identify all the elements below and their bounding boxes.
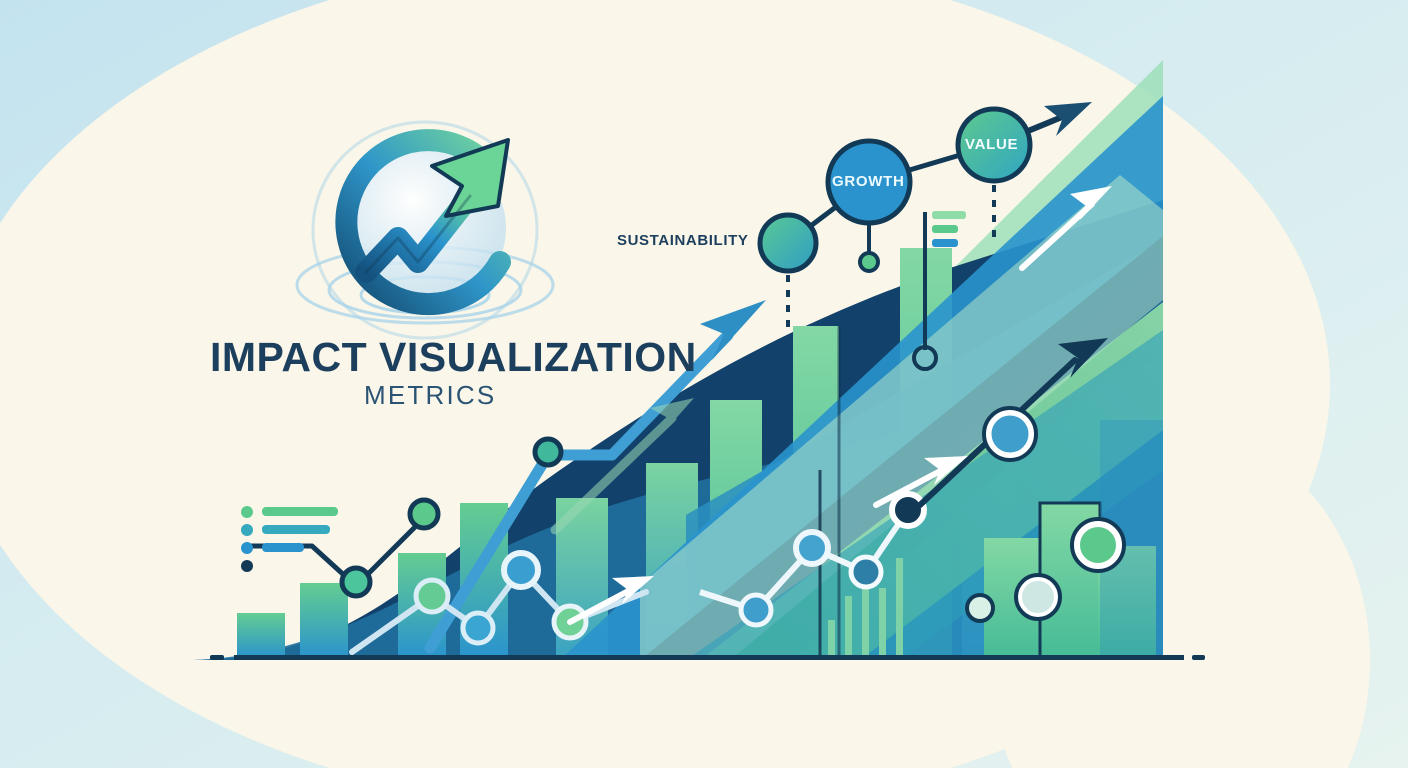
node-label-growth: GROWTH: [832, 173, 905, 190]
node-label-sustainability: SUSTAINABILITY: [617, 232, 748, 249]
impact-visualization-artwork: [0, 0, 1408, 768]
page-subtitle: METRICS: [364, 380, 496, 411]
node-sustainability[interactable]: [760, 215, 816, 271]
page-title: IMPACT VISUALIZATION: [210, 334, 697, 381]
illustration-canvas: IMPACT VISUALIZATION METRICS SUSTAINABIL…: [0, 0, 1408, 768]
node-label-value: VALUE: [965, 136, 1018, 153]
chart-baseline: [210, 655, 1205, 660]
